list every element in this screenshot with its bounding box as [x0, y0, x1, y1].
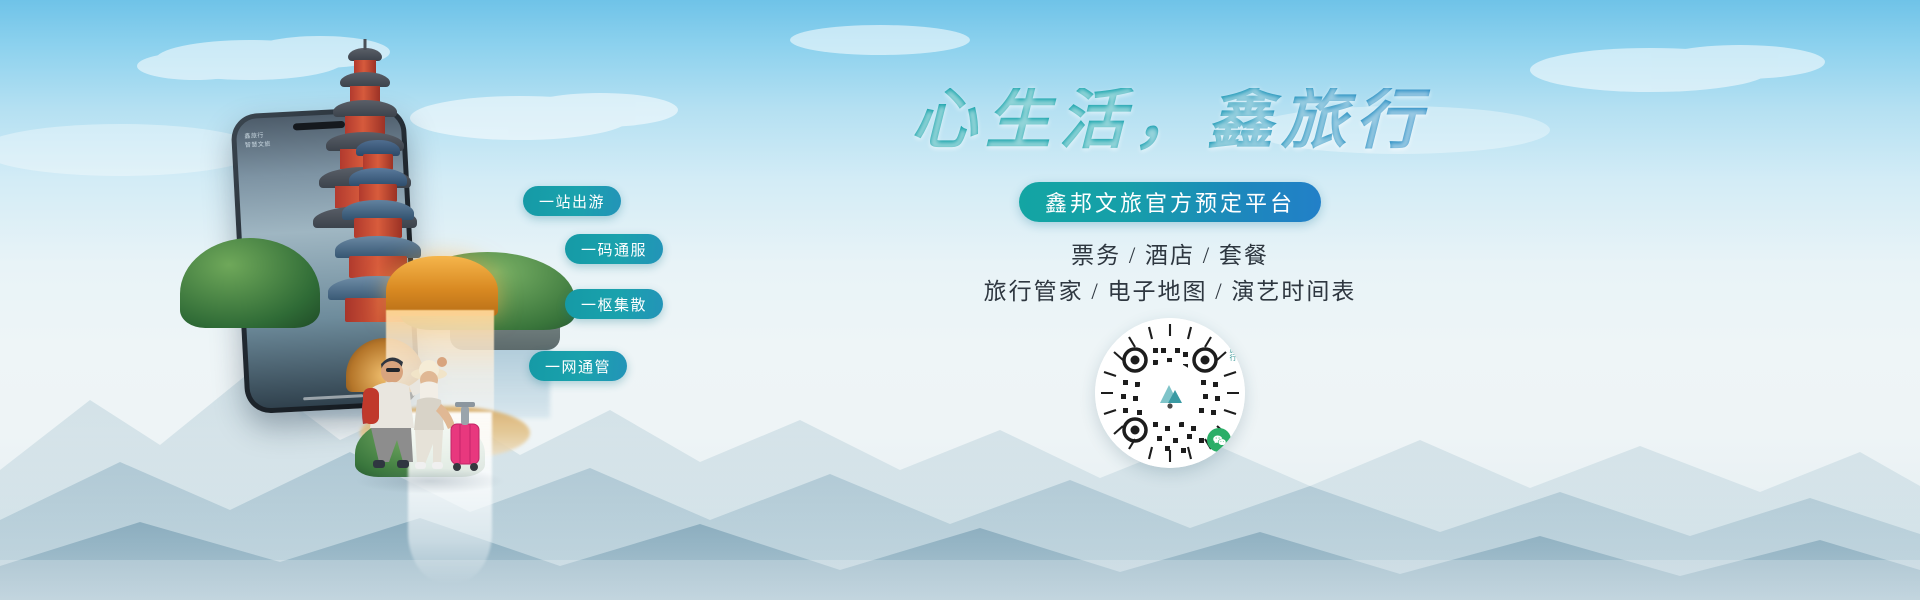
qr-code-wrap: 鑫旅行: [820, 318, 1520, 468]
wechat-icon: [1207, 428, 1231, 452]
qr-center-logo: [1139, 362, 1201, 424]
hero-text-block: 心生活，鑫旅行 鑫邦文旅官方预定平台 票务 / 酒店 / 套餐 旅行管家 / 电…: [820, 70, 1520, 530]
feature-pill-2[interactable]: 一枢集散: [565, 289, 663, 319]
feature-pill-0[interactable]: 一站出游: [523, 186, 621, 216]
mountain-logo-icon: [1150, 373, 1190, 413]
feature-pill-3[interactable]: 一网通管: [529, 351, 627, 381]
feature-pill-0-label: 一站出游: [539, 191, 605, 212]
wechat-mini-program-qr[interactable]: 鑫旅行: [1095, 318, 1245, 468]
service-line-1: 旅行管家 / 电子地图 / 演艺时间表: [820, 274, 1520, 310]
wechat-glyph: [1212, 433, 1227, 448]
feature-pill-2-label: 一枢集散: [581, 294, 647, 315]
hero-headline: 心生活，鑫旅行: [820, 88, 1520, 154]
service-list: 票务 / 酒店 / 套餐 旅行管家 / 电子地图 / 演艺时间表: [820, 238, 1520, 309]
tourism-hero-banner: 鑫旅行智慧文旅: [0, 0, 1920, 600]
service-line-0: 票务 / 酒店 / 套餐: [820, 238, 1520, 274]
platform-badge-wrap: 鑫邦文旅官方预定平台: [820, 182, 1520, 222]
feature-pill-3-label: 一网通管: [545, 356, 611, 377]
feature-pill-1-label: 一码通服: [581, 239, 647, 260]
qr-brand-text: 鑫旅行: [1228, 338, 1236, 362]
platform-badge-label: 鑫邦文旅官方预定平台: [1045, 186, 1295, 218]
platform-badge[interactable]: 鑫邦文旅官方预定平台: [1019, 182, 1321, 222]
feature-pill-1[interactable]: 一码通服: [565, 234, 663, 264]
